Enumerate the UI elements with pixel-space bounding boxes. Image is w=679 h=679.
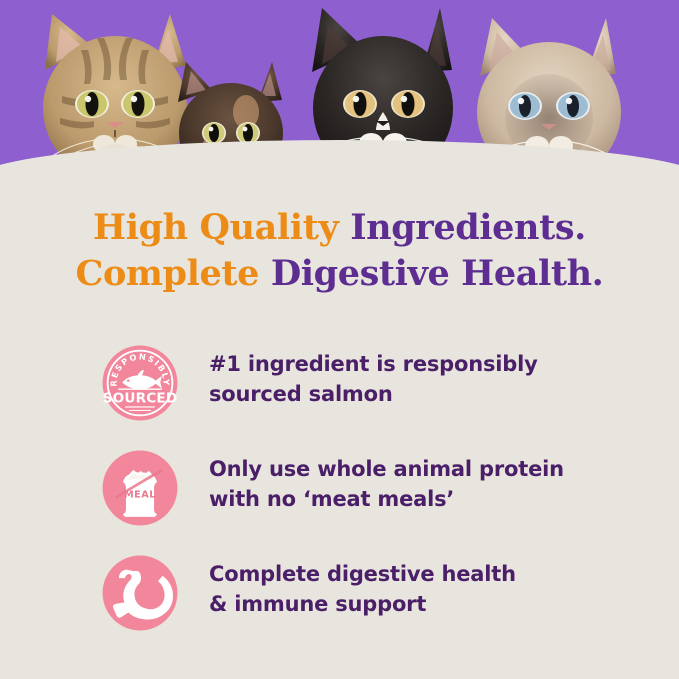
headline-line-1: High Quality Ingredients.	[0, 205, 679, 251]
hero-banner	[0, 0, 679, 200]
feature-2-line-2: with no ‘meat meals’	[209, 485, 564, 515]
stomach-heart-digestive-icon	[101, 554, 179, 632]
feature-1-line-2: sourced salmon	[209, 380, 538, 410]
feature-item-responsibly-sourced: RESPONSIBLY SOURCED #1 ingredient is res…	[0, 340, 679, 445]
headline-line1-orange: High Quality	[93, 207, 350, 248]
feature-item-digestive-health: Complete digestive health & immune suppo…	[0, 550, 679, 655]
headline-line2-purple: Digestive Health.	[271, 253, 604, 294]
hero-curve-divider	[0, 140, 679, 200]
badge-main-text: SOURCED	[103, 391, 178, 407]
feature-item-no-meat-meals: MEAL Only use whole animal protein with …	[0, 445, 679, 550]
feature-3-line-1: Complete digestive health	[209, 560, 516, 590]
feature-text-3: Complete digestive health & immune suppo…	[209, 550, 516, 620]
feature-list: RESPONSIBLY SOURCED #1 ingredient is res…	[0, 340, 679, 655]
promo-infographic: High Quality Ingredients. Complete Diges…	[0, 0, 679, 679]
no-meat-meal-bag-icon: MEAL	[101, 449, 179, 527]
headline-line1-purple: Ingredients.	[350, 207, 586, 248]
feature-3-line-2: & immune support	[209, 590, 516, 620]
feature-1-line-1: #1 ingredient is responsibly	[209, 350, 538, 380]
responsibly-sourced-fish-icon: RESPONSIBLY SOURCED	[101, 344, 179, 422]
page-title: High Quality Ingredients. Complete Diges…	[0, 205, 679, 297]
feature-text-2: Only use whole animal protein with no ‘m…	[209, 445, 564, 515]
headline-line-2: Complete Digestive Health.	[0, 251, 679, 297]
feature-2-line-1: Only use whole animal protein	[209, 455, 564, 485]
headline-line2-orange: Complete	[76, 253, 271, 294]
feature-text-1: #1 ingredient is responsibly sourced sal…	[209, 340, 538, 410]
